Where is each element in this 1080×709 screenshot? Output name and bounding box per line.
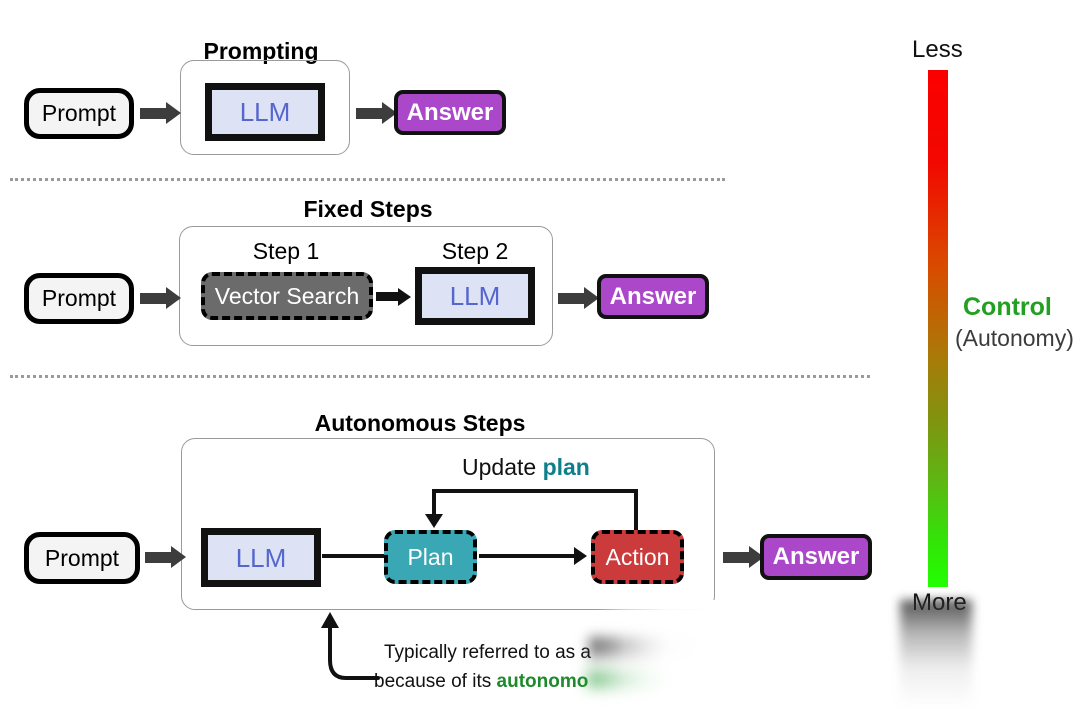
loop-line-horizontal [432,489,638,493]
llm-node-prompting[interactable]: LLM [205,83,325,141]
arrow-action-to-answer [723,552,751,563]
scale-label-more: More [912,591,967,615]
arrow-llm-to-plan [322,554,384,558]
step-label-1: Step 1 [226,240,346,263]
control-gradient-bar [928,70,948,587]
scale-label-less: Less [912,38,963,62]
diagram-canvas: Prompting Prompt LLM Answer Fixed Steps … [0,0,1080,709]
caption-smear-gray [588,636,708,666]
arrow-llm-to-answer-2 [558,293,586,304]
section-title-fixed-steps: Fixed Steps [288,198,448,221]
answer-node-autonomous[interactable]: Answer [760,534,872,580]
vector-search-node[interactable]: Vector Search [201,272,373,320]
step-label-2: Step 2 [415,240,535,263]
caption-line-2: because of its autonomo [374,672,588,691]
section-divider-2 [10,375,870,378]
prompt-node-fixed-steps[interactable]: Prompt [24,273,134,324]
prompt-node-autonomous[interactable]: Prompt [24,532,140,584]
arrow-prompt-to-llm-3 [145,552,173,563]
arrow-plan-to-action [479,554,576,558]
update-plan-label: Update plan [462,456,590,479]
llm-node-fixed-steps[interactable]: LLM [415,267,535,325]
loop-line-right-vertical [634,489,638,532]
section-title-autonomous-steps: Autonomous Steps [300,412,540,435]
arrow-prompt-to-llm-1 [140,108,168,119]
scale-title-control: Control [963,295,1052,320]
arrow-llm-to-answer-1 [356,108,384,119]
answer-node-prompting[interactable]: Answer [394,90,506,135]
llm-node-autonomous[interactable]: LLM [201,528,321,587]
action-node[interactable]: Action [591,530,684,584]
caption-line-1-text: Typically referred to as a [384,642,591,663]
update-plan-text: Update [462,454,543,480]
caption-fade-overlay [596,600,726,709]
arrow-head-prompt-to-llm-3 [171,546,186,568]
caption-line-2-text: because of its [374,671,497,692]
prompt-node-prompting[interactable]: Prompt [24,88,134,139]
update-plan-keyword: plan [543,454,590,480]
caption-keyword-autonomous: autonomo [497,671,589,692]
loop-line-left-vertical [432,489,436,517]
arrow-prompt-to-vector [140,293,168,304]
section-divider-1 [10,178,725,181]
arrow-head-plan-to-action [574,547,587,565]
plan-node[interactable]: Plan [384,530,477,584]
answer-node-fixed-steps[interactable]: Answer [597,274,709,319]
arrow-head-prompt-to-vector [166,287,181,309]
loop-arrow-head-down [425,514,443,528]
caption-smear-green [586,665,696,693]
arrow-vector-to-llm [376,292,400,301]
arrow-head-prompt-to-llm-1 [166,102,181,124]
scale-label-more-smear [900,600,972,709]
caption-line-1: Typically referred to as a [384,643,591,662]
arrow-head-vector-to-llm [398,288,411,306]
scale-subtitle-autonomy: (Autonomy) [955,327,1074,350]
